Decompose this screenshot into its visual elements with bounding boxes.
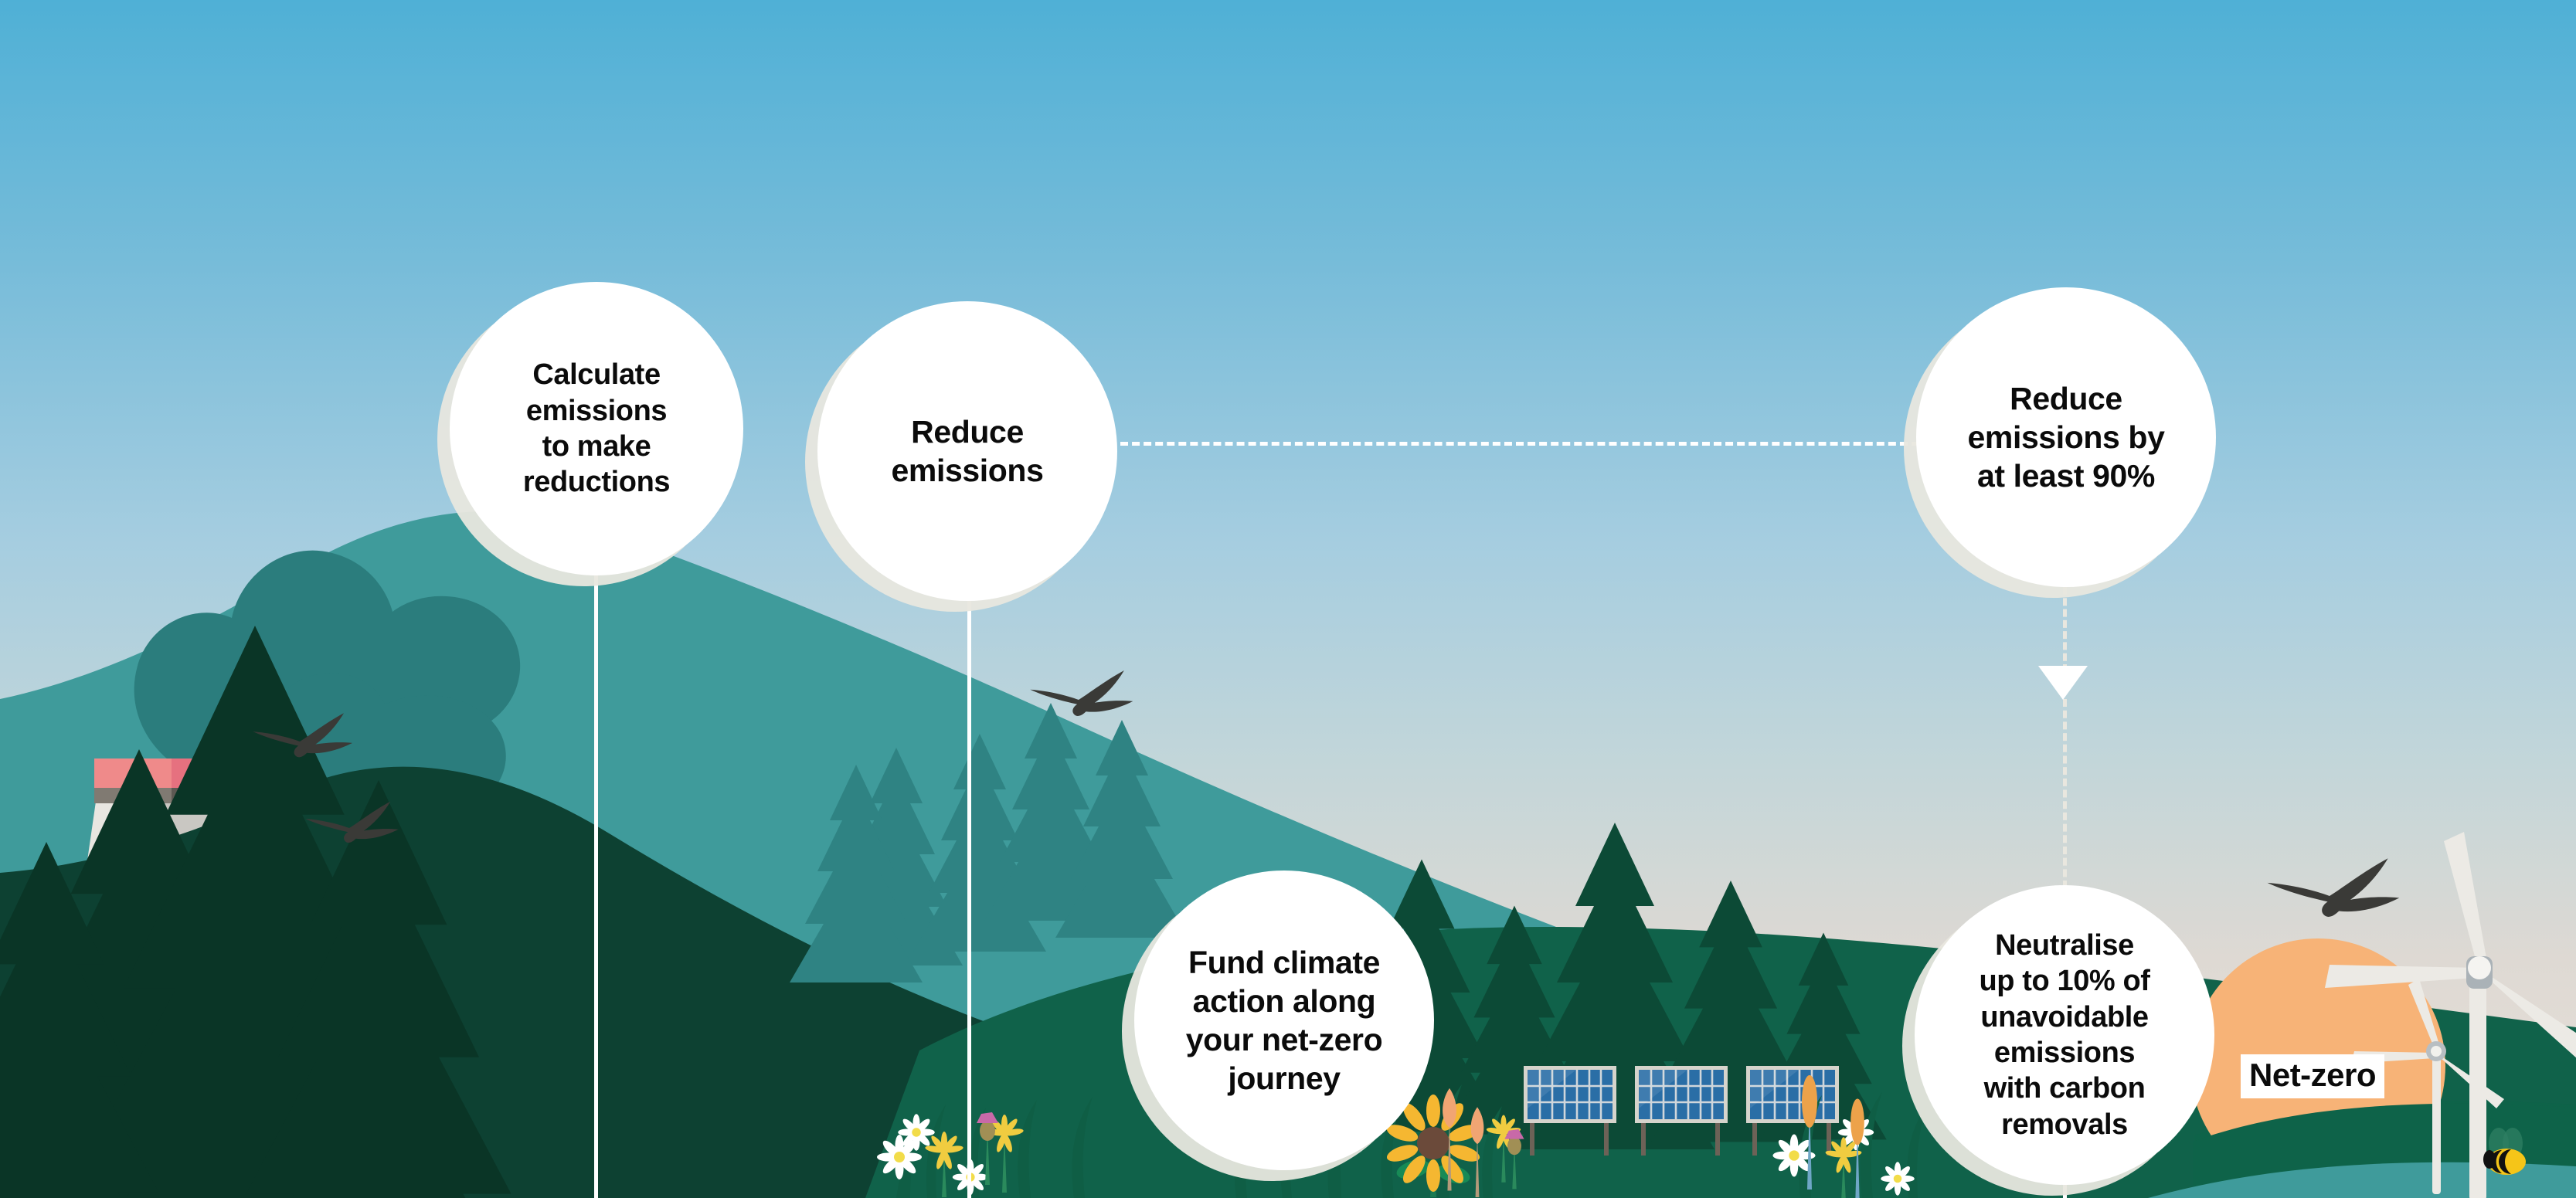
net-zero-label: Net-zero	[2241, 1054, 2384, 1098]
connector-stem-reduce	[967, 596, 971, 1198]
down-arrow-icon	[2038, 666, 2088, 700]
connector-dashed-vertical-bottom	[2063, 699, 2067, 888]
callout-calculate-label: Calculate emissions to make reductions	[512, 357, 681, 500]
callout-reduce-label: Reduce emissions	[881, 412, 1055, 490]
callout-neutralise-label: Neutralise up to 10% of unavoidable emis…	[1968, 928, 2160, 1142]
callout-neutralise-emissions[interactable]: Neutralise up to 10% of unavoidable emis…	[1915, 885, 2214, 1185]
callout-reduce90-label: Reduce emissions by at least 90%	[1957, 379, 2176, 495]
callout-reduce-90-percent[interactable]: Reduce emissions by at least 90%	[1916, 287, 2216, 587]
connector-stem-calculate	[594, 572, 598, 1198]
callout-reduce-emissions[interactable]: Reduce emissions	[817, 301, 1117, 601]
callout-fund-label: Fund climate action along your net-zero …	[1175, 943, 1394, 1098]
callout-fund-climate-action[interactable]: Fund climate action along your net-zero …	[1134, 871, 1434, 1170]
infographic-canvas: Calculate emissions to make reductions R…	[0, 0, 2576, 1198]
connector-dashed-horizontal	[1120, 442, 1919, 446]
connector-dashed-vertical-top	[2063, 587, 2067, 672]
callout-calculate-emissions[interactable]: Calculate emissions to make reductions	[450, 282, 743, 575]
